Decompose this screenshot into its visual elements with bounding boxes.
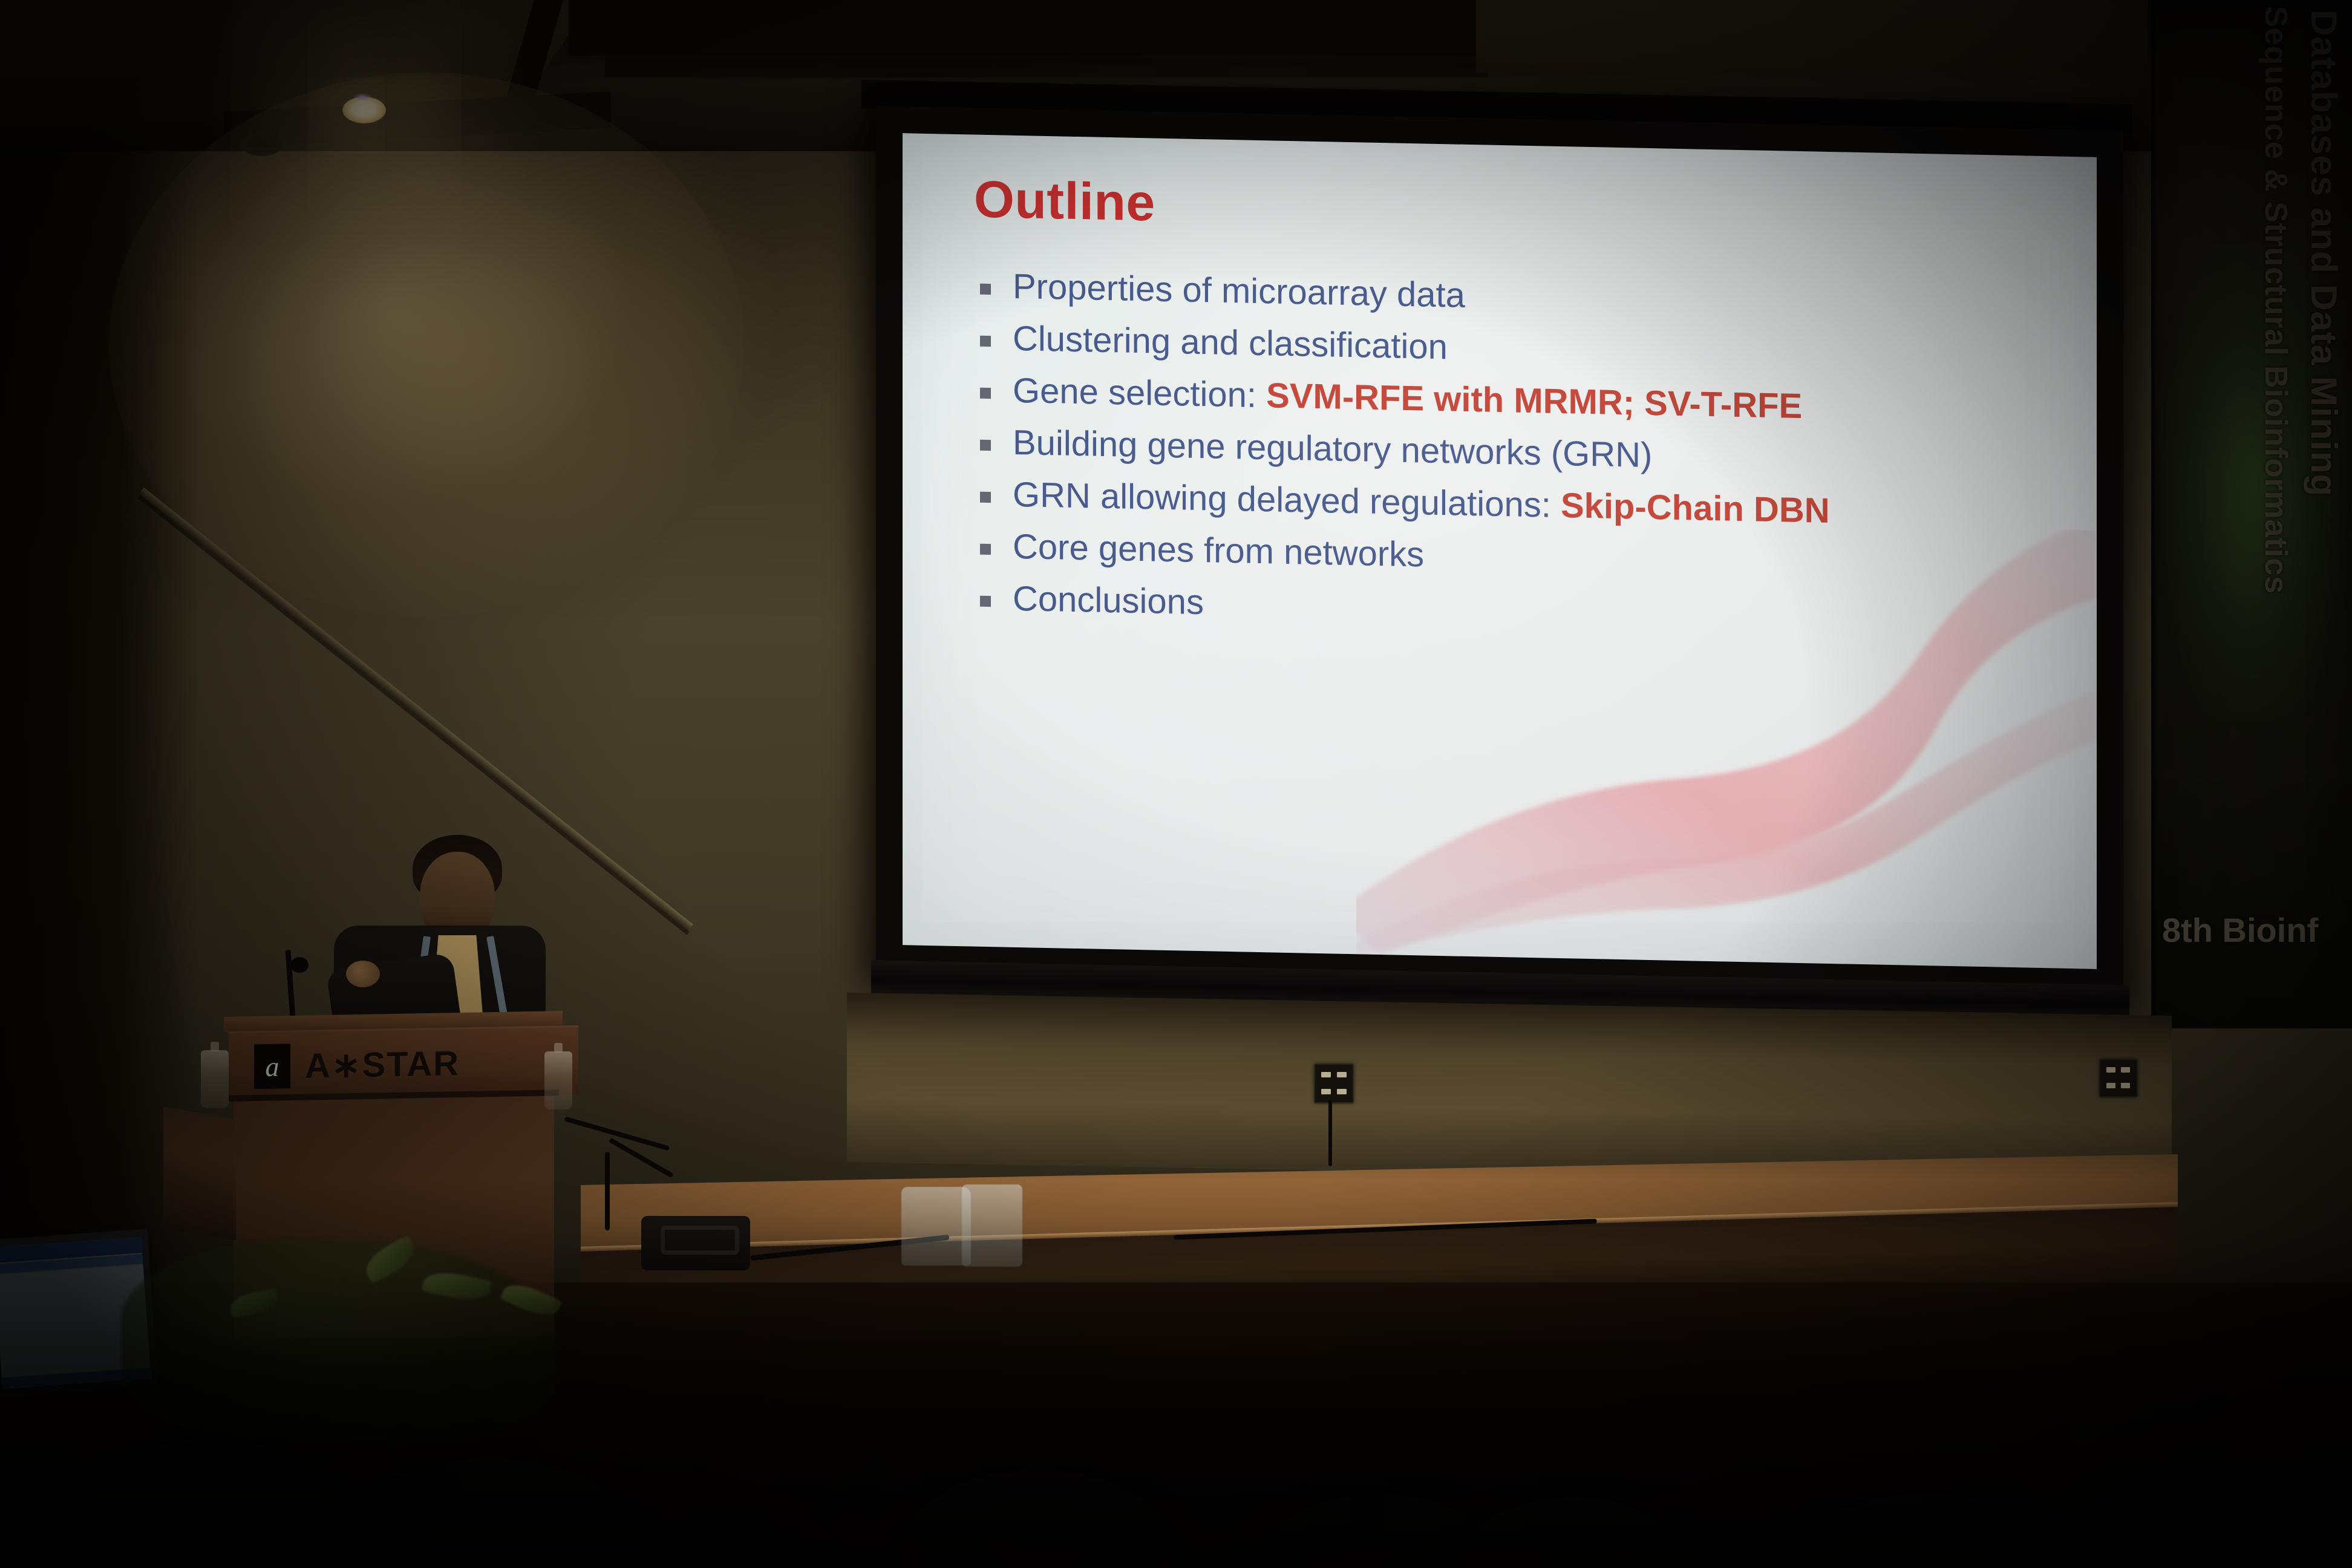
wall-socket-right [2099, 1059, 2138, 1097]
bullet-square-icon [980, 544, 991, 555]
astar-wordmark: A∗STAR [305, 1042, 460, 1086]
bullet-square-icon [980, 596, 991, 607]
ceiling-beam-3 [605, 56, 1488, 77]
socket-cable [1328, 1100, 1332, 1166]
equipment-case [641, 1216, 750, 1270]
ceiling-beam-2 [569, 0, 1476, 56]
water-bottle-podium-right [544, 1051, 572, 1109]
back-wall [847, 993, 2172, 1185]
stage-cable-2 [605, 1152, 610, 1230]
bullet-text: Clustering and classification [1013, 318, 1448, 367]
slide-content: Outline Properties of microarray data Cl… [903, 133, 2097, 969]
conference-banner: Databases and Data Mining Sequence & Str… [2151, 0, 2352, 1028]
banner-title-line-1: Databases and Data Mining [2303, 10, 2345, 497]
bullet-text: Core genes from networks [1013, 526, 1424, 575]
ceiling-panel-right [1476, 0, 2148, 73]
stage-plants [121, 1240, 557, 1440]
bullet-text: Conclusions [1013, 578, 1204, 622]
speaker-hand [346, 961, 380, 987]
bullet-square-icon [980, 284, 991, 295]
banner-left-edge-shadow [2151, 0, 2157, 1028]
bullet-square-icon [980, 336, 991, 347]
microphone-capsule-icon [290, 957, 309, 973]
bullet-text: Properties of microarray data [1013, 266, 1465, 316]
lecture-hall-photo: Databases and Data Mining Sequence & Str… [0, 0, 2352, 1568]
slide-title: Outline [974, 170, 1155, 234]
projection-screen-frame: Outline Properties of microarray data Cl… [876, 106, 2123, 1003]
plastic-bag [901, 1187, 971, 1266]
banner-footer-band [2151, 782, 2352, 1028]
projection-screen-surface: Outline Properties of microarray data Cl… [903, 133, 2097, 969]
wall-socket-left [1314, 1063, 1354, 1103]
banner-title-line-2: Sequence & Structural Bioinformatics [2258, 6, 2294, 594]
slide-bullet-list: Properties of microarray data Clustering… [974, 266, 2039, 651]
bullet-square-icon [980, 440, 991, 451]
podium-side-panel [163, 1106, 236, 1240]
water-bottle-podium-left [201, 1050, 229, 1108]
ceiling-downlight-off [241, 132, 283, 156]
bullet-square-icon [980, 388, 991, 399]
water-bottle-on-stage [962, 1184, 1022, 1267]
banner-edition-label: 8th Bioinf [2162, 910, 2318, 950]
chair-armrest [1349, 1476, 1385, 1568]
ceiling-downlight [342, 97, 386, 123]
bullet-square-icon [980, 492, 991, 503]
astar-logo-mark: a [254, 1044, 290, 1089]
